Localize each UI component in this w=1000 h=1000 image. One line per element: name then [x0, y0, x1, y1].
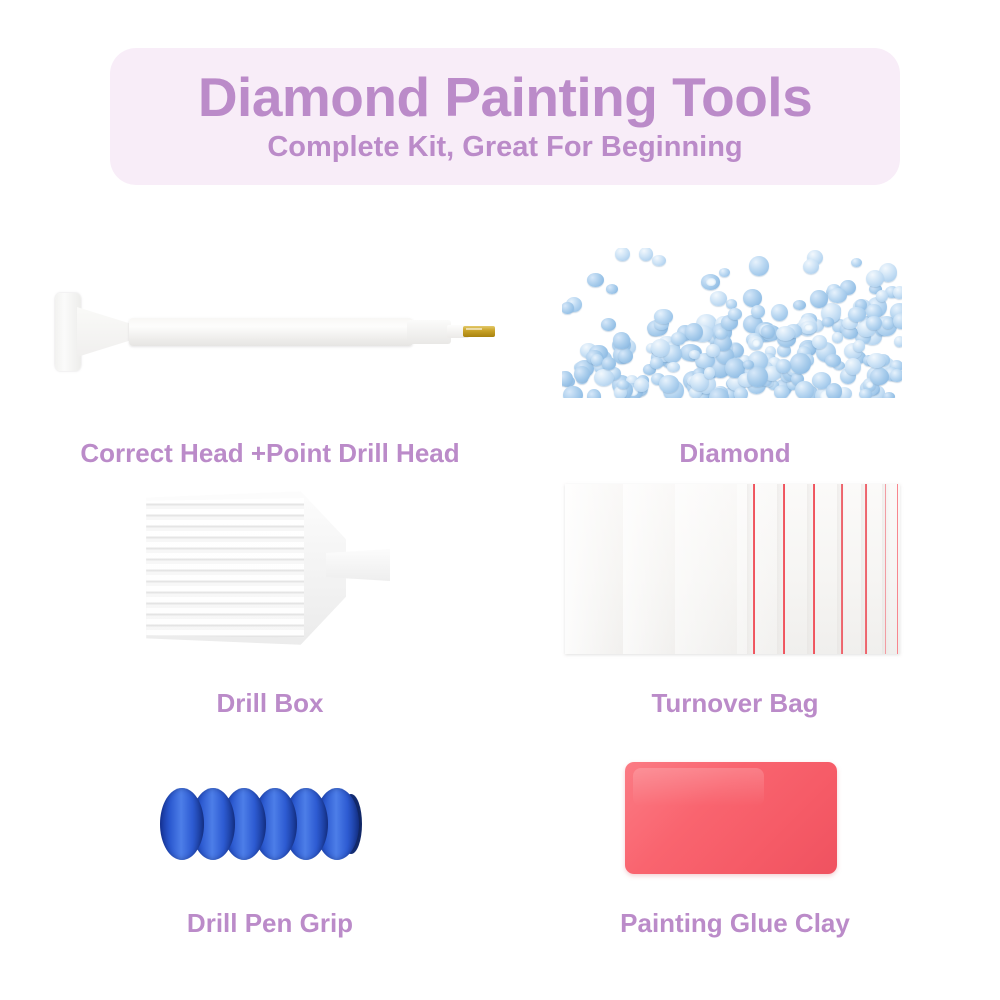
tray-grooves	[146, 498, 304, 638]
tray-spout	[326, 549, 390, 581]
drill-box-image	[140, 488, 402, 648]
product-label-drill-pen-grip: Drill Pen Grip	[20, 908, 520, 939]
page-title: Diamond Painting Tools	[198, 69, 812, 125]
tray-body	[140, 488, 346, 648]
bag-fold	[807, 484, 815, 654]
painting-glue-clay-image	[625, 762, 837, 874]
drill-pen-grip-image	[160, 788, 360, 860]
drill-pen-image	[55, 285, 495, 385]
product-cell-painting-glue-clay: Painting Glue Clay	[500, 740, 970, 990]
product-label-diamond: Diamond	[500, 438, 970, 469]
bag-fold	[882, 484, 890, 654]
header-banner: Diamond Painting Tools Complete Kit, Gre…	[110, 48, 900, 185]
pen-collar	[407, 320, 451, 344]
bag-fold	[861, 484, 869, 654]
product-label-turnover-bag: Turnover Bag	[500, 688, 970, 719]
product-label-correct-head-point-drill-head: Correct Head +Point Drill Head	[20, 438, 520, 469]
pen-neck	[77, 307, 135, 357]
product-cell-drill-box: Drill Box	[20, 470, 520, 730]
product-cell-drill-pen-grip: Drill Pen Grip	[20, 740, 520, 990]
bag-sheet	[623, 484, 675, 654]
grip-rib	[160, 788, 204, 860]
pen-gold-point-drill-tip	[463, 326, 495, 337]
bag-fold	[777, 484, 785, 654]
diamond-pile-image	[562, 248, 902, 398]
product-label-drill-box: Drill Box	[20, 688, 520, 719]
page-subtitle: Complete Kit, Great For Beginning	[267, 131, 742, 164]
bag-fold	[837, 484, 845, 654]
product-cell-turnover-bag: Turnover Bag	[500, 470, 970, 730]
pen-barrel	[129, 318, 413, 346]
bag-sheet	[675, 484, 737, 654]
product-grid: Correct Head +Point Drill Head Diamond D…	[0, 200, 1000, 1000]
bag-fold	[747, 484, 755, 654]
product-cell-correct-head-point-drill-head: Correct Head +Point Drill Head	[20, 230, 520, 480]
bag-zip-line	[897, 484, 898, 654]
product-cell-diamond: Diamond	[500, 218, 970, 480]
turnover-bag-image	[565, 484, 900, 654]
product-label-painting-glue-clay: Painting Glue Clay	[500, 908, 970, 939]
bag-sheet	[565, 484, 623, 654]
infographic-page: Diamond Painting Tools Complete Kit, Gre…	[0, 0, 1000, 1000]
